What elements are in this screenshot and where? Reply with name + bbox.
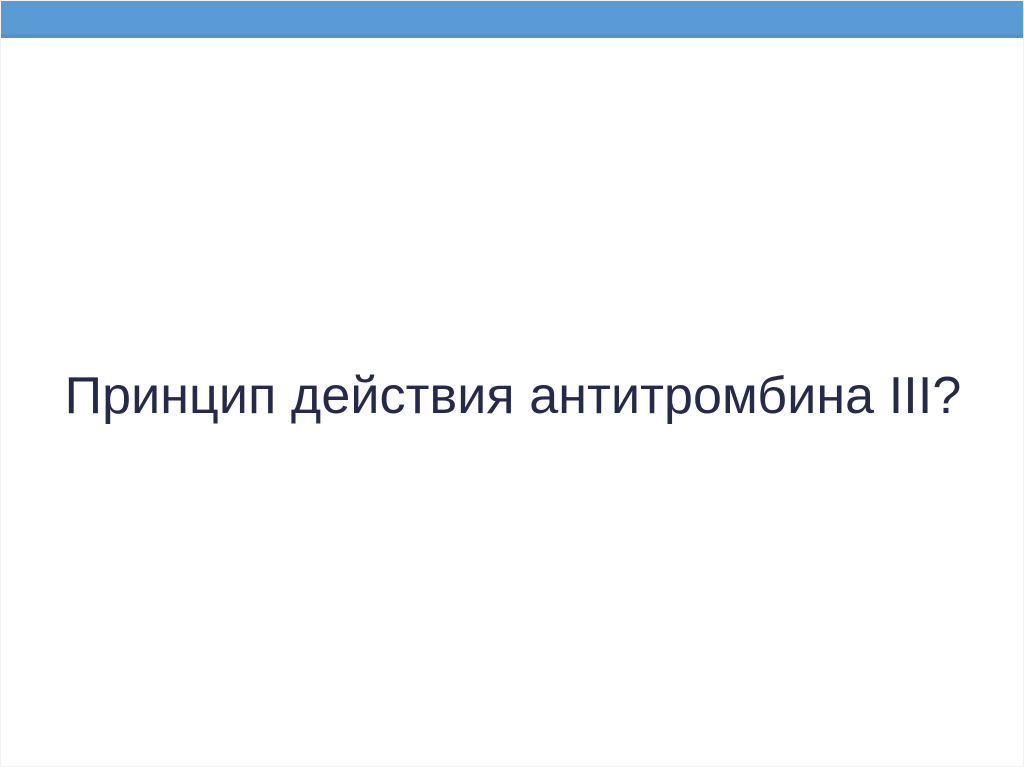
title-block: Принцип действия антитромбина III?: [1, 38, 1024, 767]
slide-body: Принцип действия антитромбина III?: [1, 38, 1024, 767]
slide-title: Принцип действия антитромбина III?: [1, 367, 1024, 427]
top-accent-band: [1, 1, 1024, 38]
slide: Принцип действия антитромбина III?: [0, 0, 1024, 767]
